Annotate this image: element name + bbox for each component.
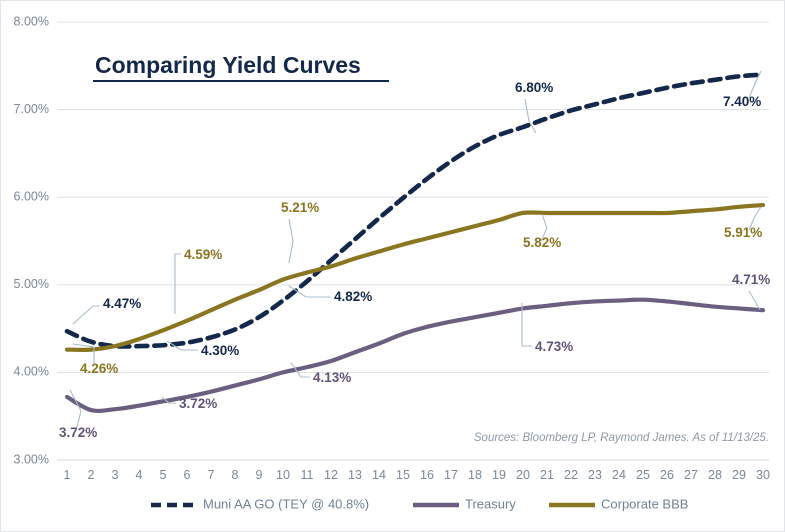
x-axis-tick-label: 15: [396, 468, 410, 482]
x-axis-tick-label: 28: [708, 468, 722, 482]
x-axis-tick-label: 22: [564, 468, 578, 482]
x-axis-tick-label: 30: [756, 468, 770, 482]
x-axis-tick-label: 17: [444, 468, 458, 482]
y-axis-tick-label: 3.00%: [14, 452, 49, 466]
data-point-label: 3.72%: [59, 425, 97, 440]
data-point-label: 4.47%: [103, 296, 141, 311]
annotation-leader-line: [73, 306, 100, 324]
x-axis-tick-labels: 1234567891011121314151617181920212223242…: [64, 468, 770, 482]
x-axis-tick-label: 1: [64, 468, 71, 482]
data-point-labels: 4.47%4.30%4.82%6.80%7.40%4.26%4.59%5.21%…: [59, 80, 770, 440]
x-axis-tick-label: 18: [468, 468, 482, 482]
data-point-label: 4.26%: [80, 361, 118, 376]
x-axis-tick-label: 9: [256, 468, 263, 482]
series-line-treasury: [67, 300, 763, 411]
x-axis-tick-label: 3: [112, 468, 119, 482]
x-axis-tick-label: 20: [516, 468, 530, 482]
series-lines: [67, 75, 763, 411]
legend-label-corporate-bbb[interactable]: Corporate BBB: [601, 496, 688, 511]
x-axis-tick-label: 12: [324, 468, 338, 482]
y-axis-tick-label: 8.00%: [14, 14, 49, 28]
x-axis-tick-label: 27: [684, 468, 698, 482]
x-axis-tick-label: 13: [348, 468, 362, 482]
yield-curve-chart: 3.00%4.00%5.00%6.00%7.00%8.00% 123456789…: [0, 0, 785, 532]
data-point-label: 5.21%: [281, 200, 319, 215]
y-axis-tick-labels: 3.00%4.00%5.00%6.00%7.00%8.00%: [14, 14, 49, 466]
annotation-leader-line: [70, 390, 81, 427]
data-point-label: 4.13%: [313, 370, 351, 385]
x-axis-tick-label: 26: [660, 468, 674, 482]
x-axis-tick-label: 6: [184, 468, 191, 482]
x-axis-tick-label: 2: [88, 468, 95, 482]
annotation-leader-line: [749, 291, 760, 310]
data-point-label: 5.82%: [523, 235, 561, 250]
legend-label-muni-aa-go-tey-40-8[interactable]: Muni AA GO (TEY @ 40.8%): [203, 496, 369, 511]
x-axis-tick-label: 23: [588, 468, 602, 482]
x-axis-tick-label: 5: [160, 468, 167, 482]
x-axis-tick-label: 11: [301, 468, 314, 482]
annotation-leader-lines: [70, 71, 761, 427]
x-axis-tick-label: 25: [636, 468, 650, 482]
chart-legend: Muni AA GO (TEY @ 40.8%)TreasuryCorporat…: [151, 496, 688, 511]
x-axis-tick-label: 10: [276, 468, 290, 482]
data-point-label: 7.40%: [723, 94, 761, 109]
data-point-label: 3.72%: [179, 396, 217, 411]
data-point-label: 6.80%: [515, 80, 553, 95]
x-axis-tick-label: 21: [540, 468, 554, 482]
data-point-label: 4.73%: [535, 339, 573, 354]
data-point-label: 5.91%: [724, 225, 762, 240]
x-axis-tick-label: 14: [372, 468, 386, 482]
legend-label-treasury[interactable]: Treasury: [465, 496, 516, 511]
page-title: Comparing Yield Curves: [95, 52, 361, 78]
source-note: Sources: Bloomberg LP, Raymond James. As…: [474, 432, 769, 444]
series-line-muni-aa-go-tey-40-8: [67, 75, 763, 347]
annotation-leader-line: [289, 219, 293, 263]
data-point-label: 4.59%: [184, 247, 222, 262]
data-point-label: 4.82%: [334, 289, 372, 304]
x-axis-tick-label: 19: [492, 468, 506, 482]
data-point-label: 4.30%: [201, 343, 239, 358]
data-point-label: 4.71%: [732, 272, 770, 287]
y-axis-tick-label: 5.00%: [14, 277, 49, 291]
x-axis-tick-label: 8: [232, 468, 239, 482]
y-axis-tick-label: 7.00%: [14, 102, 49, 116]
y-axis-tick-label: 4.00%: [14, 365, 49, 379]
annotation-leader-line: [175, 254, 181, 314]
x-axis-tick-label: 16: [420, 468, 434, 482]
x-axis-tick-label: 29: [732, 468, 746, 482]
x-axis-tick-label: 7: [208, 468, 215, 482]
chart-canvas: 3.00%4.00%5.00%6.00%7.00%8.00% 123456789…: [1, 1, 785, 532]
x-axis-tick-label: 4: [136, 468, 143, 482]
x-axis-tick-label: 24: [612, 468, 626, 482]
y-axis-tick-label: 6.00%: [14, 189, 49, 203]
